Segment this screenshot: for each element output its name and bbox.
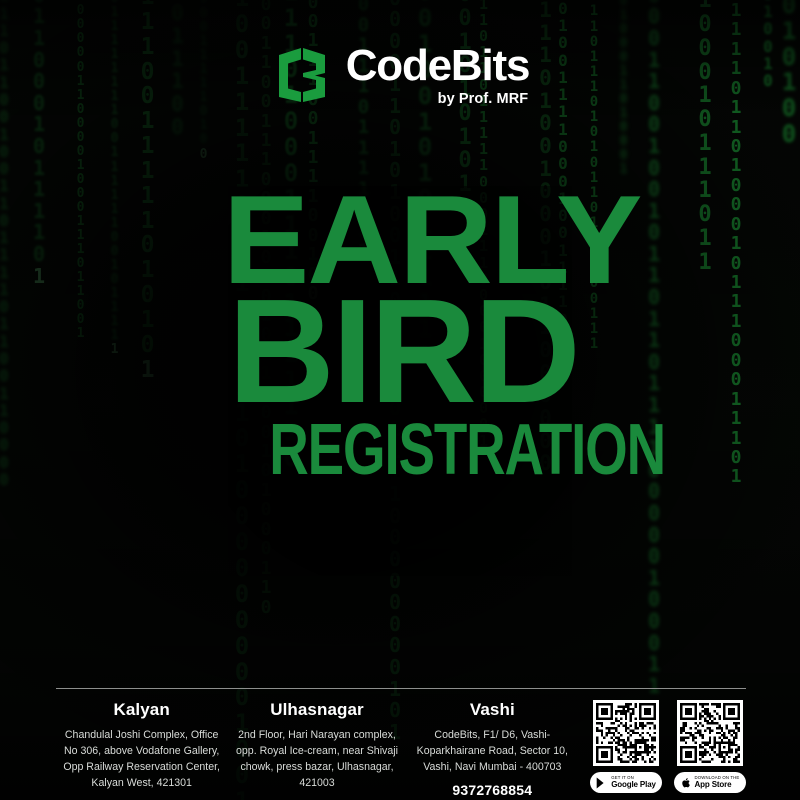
- logo-wordblock: CodeBits by Prof. MRF: [346, 44, 530, 107]
- app-store-badge[interactable]: Download on the App Store: [674, 772, 746, 793]
- branch-address: 2nd Floor, Hari Narayan complex, opp. Ro…: [235, 727, 398, 791]
- matrix-rain-head: 0: [195, 148, 212, 162]
- qr-matrix: [680, 703, 740, 763]
- app-store-qr-code[interactable]: [677, 700, 743, 766]
- google-play-column: GET IT ON Google Play: [590, 700, 662, 793]
- branch-kalyan: Kalyan Chandulal Joshi Complex, Office N…: [54, 700, 229, 800]
- branch-address: Chandulal Joshi Complex, Office No 306, …: [60, 727, 223, 791]
- google-play-icon: [596, 777, 607, 789]
- promo-poster: 0 0 1 1 1 1 0 0 1 1 1 1 0 1 1 0 0 1 0 0 …: [0, 0, 800, 800]
- qr-matrix: [596, 703, 656, 763]
- logo-lockup: CodeBits by Prof. MRF: [271, 44, 530, 107]
- footer-divider: [56, 688, 746, 689]
- branch-phone[interactable]: 9372768854: [411, 782, 574, 798]
- branch-name: Vashi: [411, 700, 574, 720]
- branch-list: Kalyan Chandulal Joshi Complex, Office N…: [54, 700, 580, 800]
- matrix-rain-head: 1: [106, 343, 123, 357]
- codebits-cb-monogram-icon: [271, 46, 333, 104]
- branch-name: Kalyan: [60, 700, 223, 720]
- app-store-badge-text: Download on the App Store: [695, 776, 740, 789]
- apple-icon: [681, 777, 691, 789]
- google-play-badge[interactable]: GET IT ON Google Play: [590, 772, 662, 793]
- headline-block: EARLY BIRD REGISTRATION: [228, 186, 572, 482]
- google-play-qr-code[interactable]: [593, 700, 659, 766]
- app-download-group: GET IT ON Google Play Download on the: [580, 700, 746, 793]
- branch-ulhasnagar: Ulhasnagar 2nd Floor, Hari Narayan compl…: [229, 700, 404, 800]
- badge-big-text: App Store: [695, 781, 732, 789]
- branch-vashi: Vashi CodeBits, F1/ D6, Vashi-Koparkhair…: [405, 700, 580, 798]
- matrix-rain-head: 1: [134, 358, 161, 383]
- matrix-rain-column: 1 1 0 0 1 0 1 1 1 0 0 0 0 1 1 1 0 0 0 1 …: [692, 0, 718, 274]
- headline-line-bird: BIRD: [228, 288, 572, 415]
- matrix-rain-head: 1: [27, 266, 51, 288]
- app-store-column: Download on the App Store: [674, 700, 746, 793]
- footer: Kalyan Chandulal Joshi Complex, Office N…: [0, 700, 800, 800]
- headline-line-registration: REGISTRATION: [269, 420, 530, 482]
- google-play-badge-text: GET IT ON Google Play: [611, 776, 656, 789]
- badge-big-text: Google Play: [611, 781, 656, 789]
- matrix-rain-column: 1 1 0 0 1 1 0 0 0 1 0 1 1 1 1 0: [27, 0, 51, 266]
- brand-header: CodeBits by Prof. MRF: [0, 44, 800, 107]
- matrix-rain-column: 1 0 0 1 0 0 1 1 1 1 1 0 0: [326, 0, 348, 1]
- brand-tagline: by Prof. MRF: [438, 92, 529, 107]
- branch-name: Ulhasnagar: [235, 700, 398, 720]
- branch-address: CodeBits, F1/ D6, Vashi-Koparkhairane Ro…: [411, 727, 574, 775]
- brand-name: CodeBits: [346, 44, 530, 88]
